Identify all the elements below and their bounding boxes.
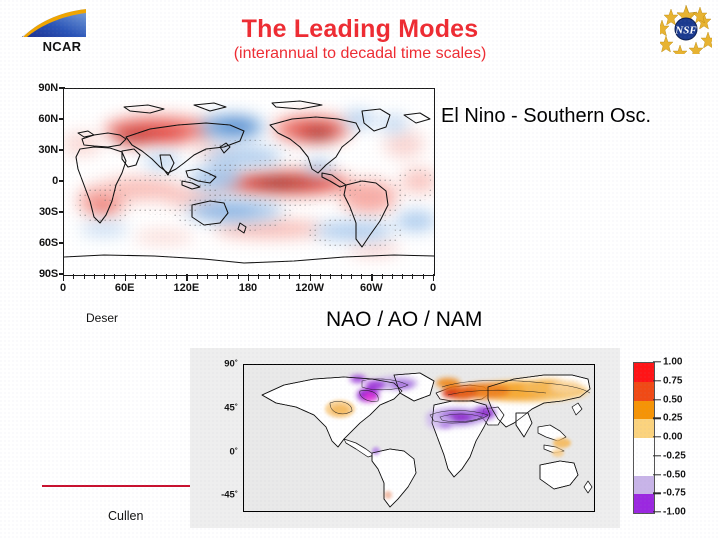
enso-x-tick-mark <box>423 274 424 279</box>
enso-x-axis: 060E120E180120W60W0 <box>22 282 442 298</box>
colorbar-band <box>634 363 654 382</box>
enso-x-tick-mark <box>412 274 413 279</box>
nao-frame-band <box>302 511 331 512</box>
colorbar-tick-label: -0.50 <box>663 469 686 480</box>
enso-map-plot <box>63 88 435 276</box>
nao-frame-band <box>361 364 390 365</box>
nao-frame-band <box>448 364 477 365</box>
nao-frame-band <box>244 364 273 365</box>
nao-y-tick-label: 0˚ <box>230 446 238 457</box>
nao-y-tick-label: 90˚ <box>224 359 238 370</box>
enso-x-tick-mark <box>135 274 136 279</box>
nao-frame-band <box>273 511 302 512</box>
enso-x-tick-mark <box>258 274 259 279</box>
enso-y-tick-label: 30N <box>38 144 58 156</box>
page-title: The Leading Modes <box>0 16 720 42</box>
colorbar-tick-label: -0.75 <box>663 488 686 499</box>
nao-frame-band <box>448 511 477 512</box>
enso-x-tick-mark <box>197 274 198 279</box>
nao-frame-band <box>243 365 244 402</box>
enso-credit-label: Deser <box>86 311 118 325</box>
enso-x-tick-label: 180 <box>239 282 257 294</box>
enso-x-tick-mark <box>248 274 249 281</box>
colorbar-tick-mark <box>653 399 661 400</box>
enso-x-tick-mark <box>330 274 331 279</box>
nao-frame-band <box>243 475 244 512</box>
enso-x-tick-mark <box>125 274 126 281</box>
enso-y-tick-label: 60N <box>38 113 58 125</box>
nao-y-tick-label: 45˚ <box>224 402 238 413</box>
enso-x-tick-mark <box>207 274 208 279</box>
nao-frame-band <box>244 511 273 512</box>
enso-x-tick-label: 120E <box>173 282 199 294</box>
colorbar-tick-label: 0.25 <box>663 413 682 424</box>
enso-y-axis: 90N60N30N030S60S90S <box>22 86 58 276</box>
enso-x-tick-mark <box>371 274 372 281</box>
nao-frame-band <box>536 364 565 365</box>
nao-frame-band <box>243 402 244 439</box>
enso-x-tick-mark <box>433 274 434 281</box>
enso-x-tick-mark <box>73 274 74 279</box>
colorbar-tick-label: 0.75 <box>663 375 682 386</box>
nao-frame-band <box>477 364 506 365</box>
colorbar-tick-label: 0.50 <box>663 394 682 405</box>
enso-x-ticks <box>63 274 436 281</box>
enso-map-canvas <box>64 89 434 275</box>
enso-x-tick-mark <box>114 274 115 279</box>
colorbar-band <box>634 401 654 420</box>
enso-x-tick-mark <box>279 274 280 279</box>
colorbar-tick-mark <box>653 418 661 419</box>
enso-x-tick-mark <box>392 274 393 279</box>
nao-frame-band <box>477 511 506 512</box>
colorbar-band <box>634 382 654 401</box>
nao-mode-label: NAO / AO / NAM <box>326 308 482 332</box>
nao-frame-band <box>594 438 595 475</box>
enso-x-tick-mark <box>156 274 157 279</box>
enso-x-tick-mark <box>269 274 270 279</box>
enso-x-tick-label: 0 <box>60 282 66 294</box>
enso-x-tick-label: 120W <box>295 282 324 294</box>
colorbar-band <box>634 494 654 513</box>
colorbar-tick-mark <box>653 380 661 381</box>
colorbar-tick-label: 1.00 <box>663 357 682 368</box>
colorbar-tick-label: -0.25 <box>663 450 686 461</box>
nao-frame-band <box>594 365 595 402</box>
nao-y-tick-label: -45˚ <box>221 490 238 501</box>
enso-x-tick-mark <box>94 274 95 279</box>
nao-frame-band <box>361 511 390 512</box>
colorbar-tick-mark <box>653 361 661 362</box>
nao-frame-band <box>419 511 448 512</box>
enso-x-tick-mark <box>351 274 352 279</box>
enso-y-tick-label: 30S <box>39 206 58 218</box>
enso-x-tick-mark <box>320 274 321 279</box>
nao-frame-band <box>419 364 448 365</box>
nao-frame-band <box>302 364 331 365</box>
enso-x-tick-mark <box>227 274 228 279</box>
enso-x-tick-mark <box>310 274 311 281</box>
nao-figure: 90˚45˚0˚-45˚ <box>190 348 720 533</box>
enso-x-tick-mark <box>63 274 64 281</box>
nao-colorbar: 1.000.750.500.250.00-0.25-0.50-0.75-1.00 <box>633 362 715 514</box>
enso-x-tick-mark <box>176 274 177 279</box>
nao-credit-label: Cullen <box>108 509 143 523</box>
enso-y-tick-label: 60S <box>39 237 58 249</box>
enso-x-tick-mark <box>361 274 362 279</box>
enso-x-tick-mark <box>341 274 342 279</box>
enso-x-tick-mark <box>289 274 290 279</box>
colorbar-tick-mark <box>653 436 661 437</box>
nao-frame-band <box>536 511 565 512</box>
enso-x-tick-mark <box>166 274 167 279</box>
nao-map-canvas <box>244 365 594 511</box>
nao-frame-band <box>507 364 536 365</box>
colorbar-band <box>634 476 654 495</box>
colorbar-ticks <box>653 362 661 512</box>
enso-figure: 90N60N30N030S60S90S <box>22 86 442 301</box>
enso-x-tick-mark <box>104 274 105 279</box>
colorbar-tick-mark <box>653 455 661 456</box>
enso-y-tick-label: 90S <box>39 268 58 280</box>
colorbar-gradient <box>633 362 655 514</box>
colorbar-tick-mark <box>653 511 661 512</box>
enso-x-tick-mark <box>238 274 239 279</box>
nao-frame-band <box>507 511 536 512</box>
enso-x-tick-mark <box>299 274 300 279</box>
nao-frame-band <box>390 511 419 512</box>
colorbar-band <box>634 419 654 438</box>
enso-x-tick-label: 60W <box>360 282 383 294</box>
nao-frame-band <box>332 364 361 365</box>
enso-mode-label: El Nino - Southern Osc. <box>441 105 651 128</box>
enso-x-tick-label: 0 <box>430 282 436 294</box>
colorbar-labels: 1.000.750.500.250.00-0.25-0.50-0.75-1.00 <box>663 362 715 512</box>
nao-map-plot <box>243 364 595 512</box>
enso-x-tick-label: 60E <box>115 282 135 294</box>
page-subtitle: (interannual to decadal time scales) <box>0 45 720 63</box>
nao-y-axis: 90˚45˚0˚-45˚ <box>198 348 238 528</box>
colorbar-tick-label: 0.00 <box>663 432 682 443</box>
nao-frame-band <box>390 364 419 365</box>
enso-y-tick-label: 90N <box>38 82 58 94</box>
enso-x-tick-mark <box>382 274 383 279</box>
nao-frame-band <box>565 364 594 365</box>
title-block: The Leading Modes (interannual to decada… <box>0 16 720 63</box>
nao-frame-band <box>594 402 595 439</box>
enso-x-tick-mark <box>84 274 85 279</box>
enso-y-tick-label: 0 <box>52 175 58 187</box>
colorbar-band <box>634 457 654 476</box>
footer-divider <box>42 485 190 487</box>
colorbar-band <box>634 438 654 457</box>
enso-x-tick-mark <box>217 274 218 279</box>
nao-frame-band <box>332 511 361 512</box>
colorbar-tick-mark <box>653 493 661 494</box>
enso-x-tick-mark <box>186 274 187 281</box>
nao-frame-band <box>243 438 244 475</box>
enso-x-tick-mark <box>145 274 146 279</box>
colorbar-tick-label: -1.00 <box>663 507 686 518</box>
colorbar-tick-mark <box>653 474 661 475</box>
nao-frame-band <box>273 364 302 365</box>
enso-x-tick-mark <box>402 274 403 279</box>
nao-frame-band <box>565 511 594 512</box>
nao-frame-band <box>594 475 595 512</box>
